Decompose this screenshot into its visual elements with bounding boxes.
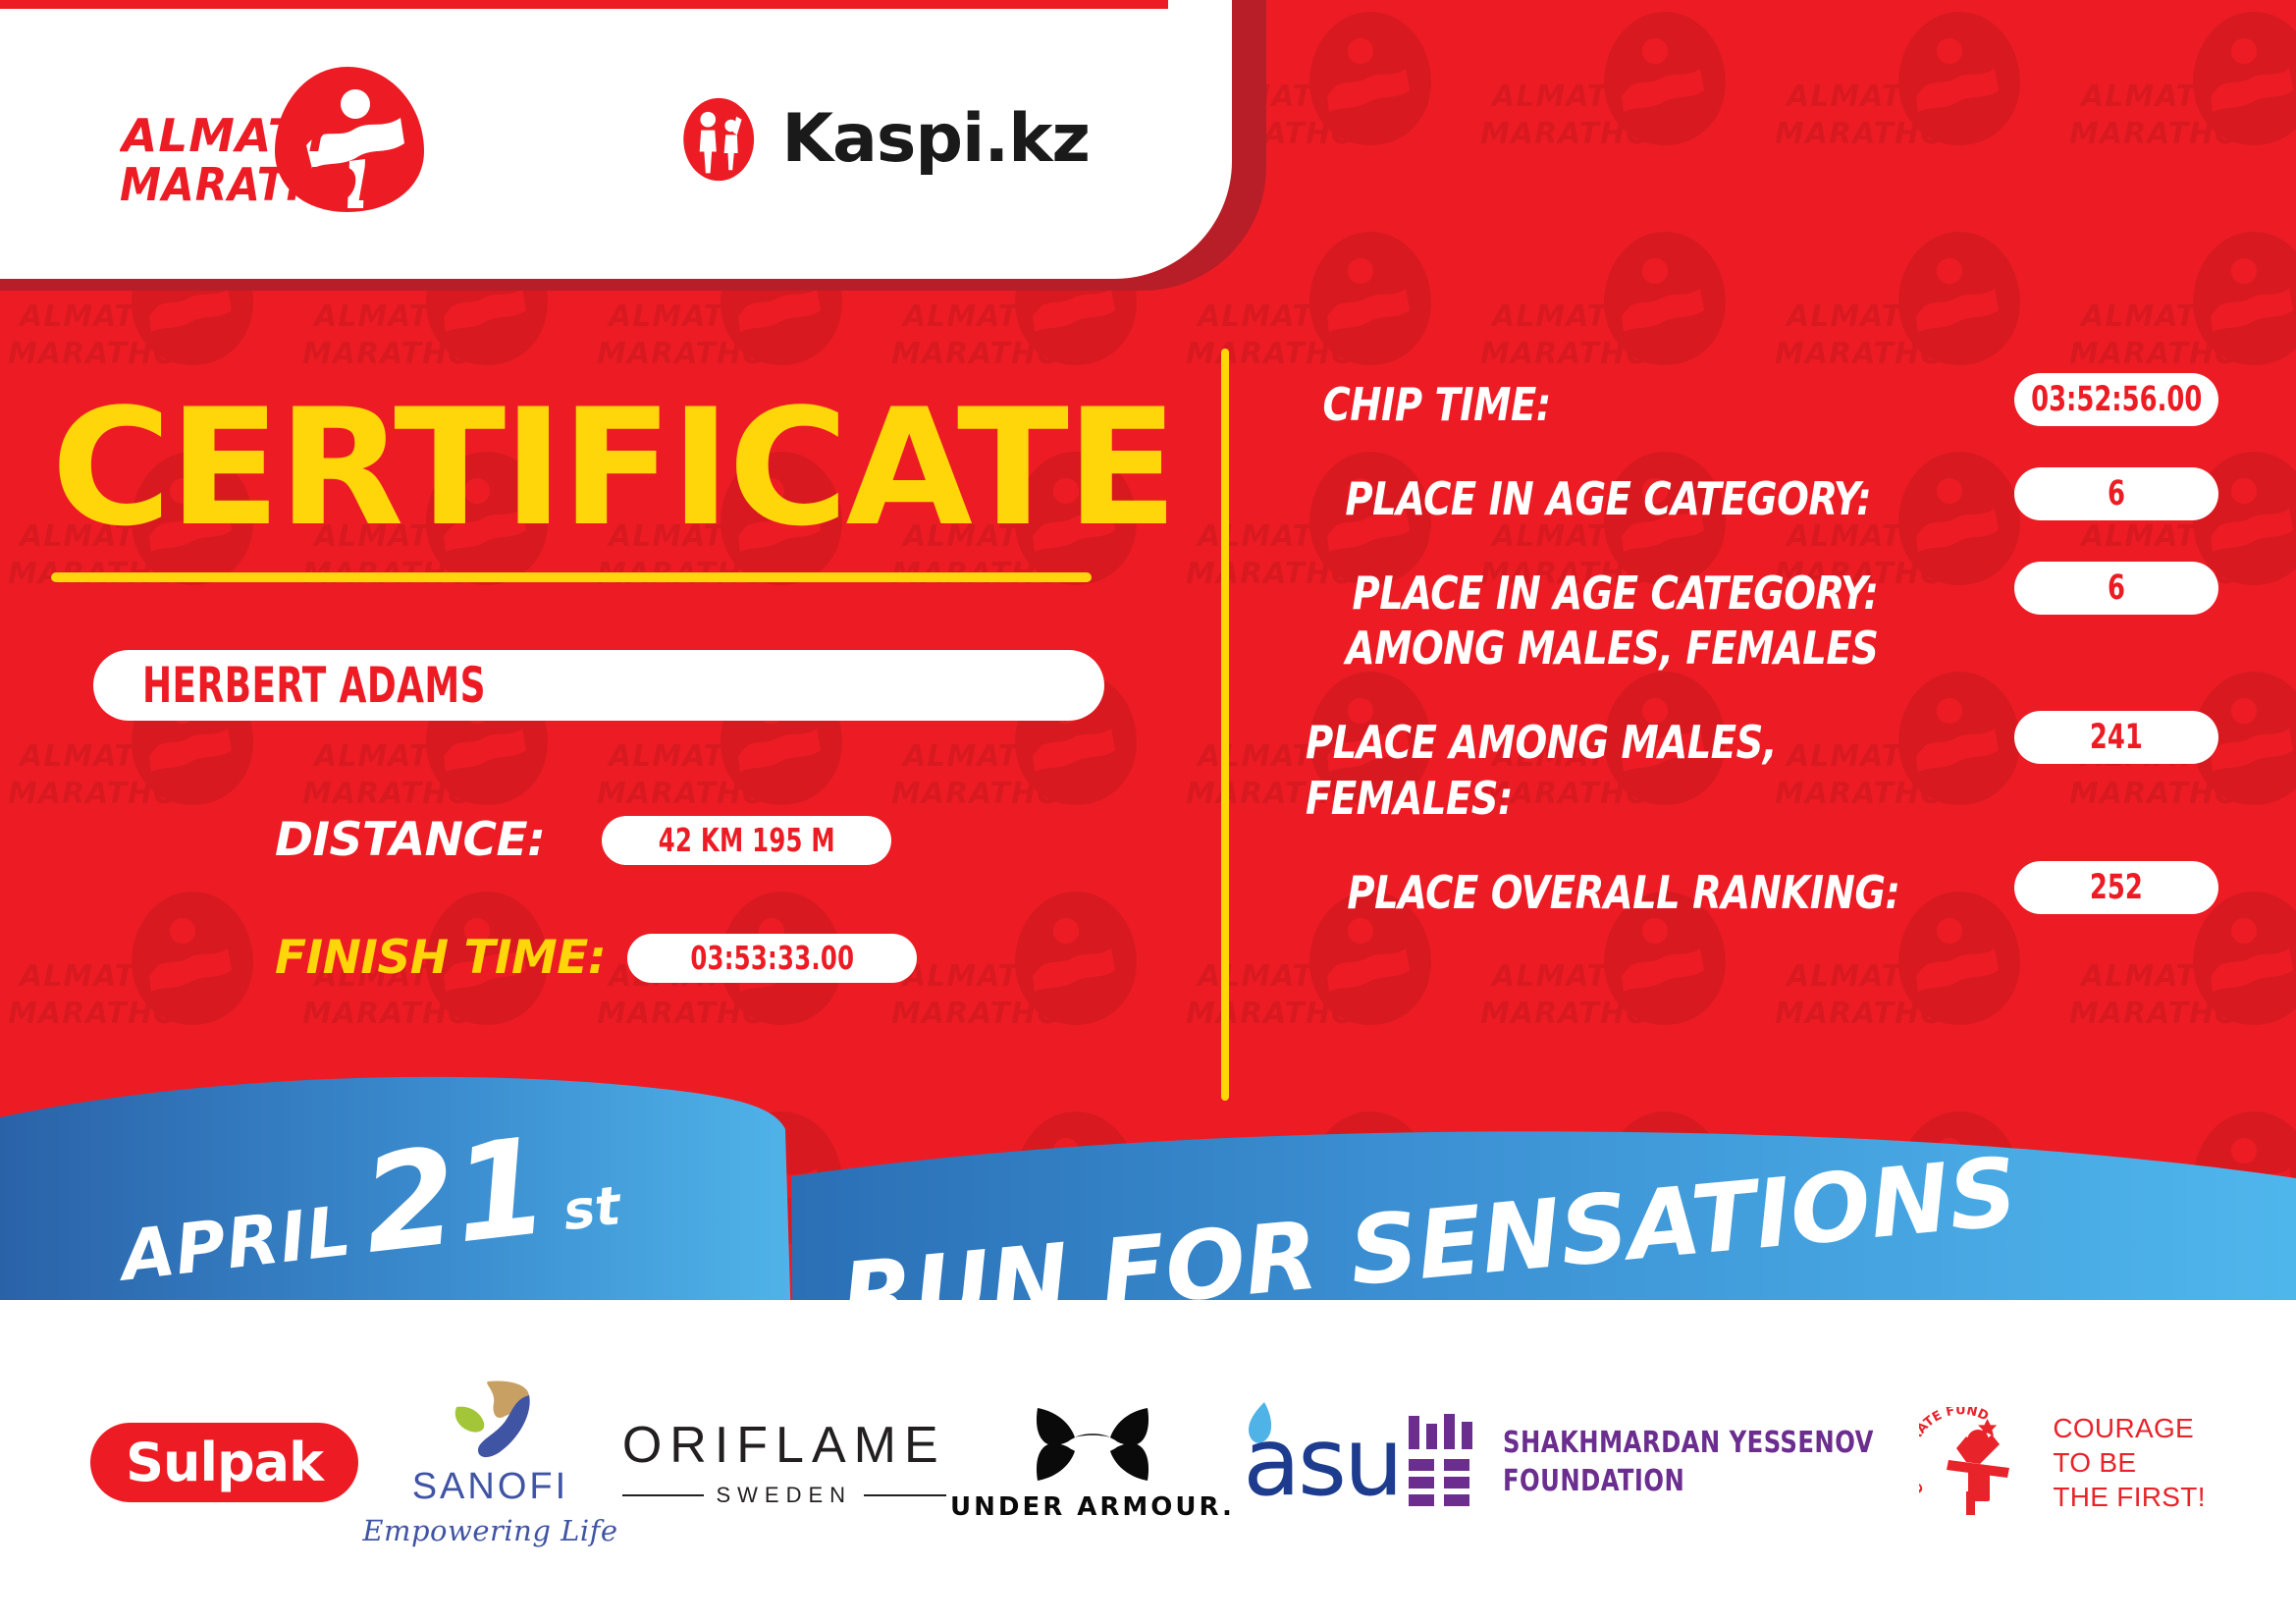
sponsor-under-armour: UNDER ARMOUR.	[950, 1402, 1235, 1522]
certificate-page: ALMATY MARATHON ALMATY MARATHON	[0, 0, 2296, 1624]
stat-row-place-age-category-gender: PLACE IN AGE CATEGORY: AMONG MALES, FEMA…	[1306, 562, 2218, 676]
distance-value-pill: 42 KM 195 M	[602, 816, 891, 865]
event-day: 21	[357, 1127, 552, 1268]
place-among-gender-value-pill: 241	[2014, 711, 2218, 764]
courage-line3: THE FIRST!	[2053, 1480, 2205, 1514]
place-among-gender-label: PLACE AMONG MALES, FEMALES:	[1306, 711, 1777, 825]
participant-name-field: HERBERT ADAMS	[93, 650, 1104, 721]
stat-row-place-overall: PLACE OVERALL RANKING: 252	[1306, 861, 2218, 920]
stat-row-chip-time: CHIP TIME: 03:52:56.00	[1306, 373, 2218, 432]
stats-panel: CHIP TIME: 03:52:56.00 PLACE IN AGE CATE…	[1306, 373, 2218, 955]
sanofi-mark-icon	[445, 1378, 535, 1462]
yessenov-mark-icon	[1405, 1414, 1477, 1510]
asu-wordmark: asu	[1243, 1415, 1401, 1509]
yessenov-wordmark: SHAKHMARDAN YESSENOV FOUNDATION	[1503, 1424, 1874, 1500]
distance-value: 42 KM 195 M	[659, 821, 835, 859]
place-among-gender-value: 241	[2090, 718, 2143, 757]
chip-time-label: CHIP TIME:	[1322, 373, 1550, 432]
chip-time-value-pill: 03:52:56.00	[2014, 373, 2218, 426]
stat-row-place-age-category: PLACE IN AGE CATEGORY: 6	[1306, 467, 2218, 526]
stat-row-place-among-gender: PLACE AMONG MALES, FEMALES: 241	[1306, 711, 2218, 825]
oriflame-rule-left	[622, 1494, 705, 1496]
place-overall-value-pill: 252	[2014, 861, 2218, 914]
place-age-category-label: PLACE IN AGE CATEGORY:	[1345, 467, 1871, 526]
sponsor-asu: asu	[1239, 1398, 1401, 1526]
finish-time-row: FINISH TIME: 03:53:33.00	[275, 931, 917, 985]
place-overall-value: 252	[2090, 868, 2143, 907]
place-age-category-value: 6	[2108, 474, 2125, 514]
oriflame-rule-right	[864, 1494, 946, 1496]
under-armour-wordmark: UNDER ARMOUR.	[950, 1492, 1235, 1522]
chip-time-value: 03:52:56.00	[2031, 380, 2202, 419]
event-day-suffix: st	[560, 1174, 623, 1242]
place-age-category-gender-value-pill: 6	[2014, 562, 2218, 615]
place-age-category-gender-label: PLACE IN AGE CATEGORY: AMONG MALES, FEMA…	[1346, 562, 1879, 676]
finish-time-value: 03:53:33.00	[690, 939, 854, 977]
title-underline	[51, 572, 1092, 582]
place-age-category-gender-label-line1: PLACE IN AGE CATEGORY:	[1346, 566, 1879, 621]
place-age-category-gender-value: 6	[2108, 568, 2125, 608]
finish-time-value-pill: 03:53:33.00	[627, 934, 917, 983]
under-armour-mark-icon	[1020, 1402, 1165, 1487]
finish-time-label: FINISH TIME:	[275, 931, 606, 985]
oriflame-country: SWEDEN	[716, 1483, 852, 1508]
distance-row: DISTANCE: 42 KM 195 M	[275, 813, 891, 867]
sponsor-yessenov-foundation: SHAKHMARDAN YESSENOV FOUNDATION	[1405, 1414, 1915, 1510]
sponsor-courage-fund: CORPORATE FUND COURAGE TO BE THE FIRST!	[1919, 1407, 2205, 1517]
courage-fund-wordmark: COURAGE TO BE THE FIRST!	[2053, 1411, 2205, 1514]
place-among-gender-label-line1: PLACE AMONG MALES,	[1306, 715, 1777, 770]
place-age-category-value-pill: 6	[2014, 467, 2218, 520]
sponsor-oriflame: ORIFLAME SWEDEN	[622, 1416, 946, 1508]
courage-line1: COURAGE	[2053, 1411, 2205, 1445]
place-among-gender-label-line2: FEMALES:	[1306, 771, 1777, 826]
sponsor-bar: Sulpak SANOFI Empowering Life ORIFLAME S…	[0, 1300, 2296, 1624]
courage-line2: TO BE	[2053, 1445, 2205, 1480]
distance-label: DISTANCE:	[275, 813, 545, 867]
oriflame-wordmark: ORIFLAME	[622, 1416, 946, 1475]
sulpak-wordmark: Sulpak	[126, 1432, 323, 1493]
place-overall-label: PLACE OVERALL RANKING:	[1347, 861, 1899, 920]
courage-fund-mark-icon: CORPORATE FUND	[1919, 1407, 2037, 1517]
sponsor-sanofi: SANOFI Empowering Life	[362, 1378, 617, 1547]
yessenov-line1: SHAKHMARDAN YESSENOV	[1503, 1424, 1874, 1462]
column-divider	[1221, 349, 1229, 1101]
page-title: CERTIFICATE	[51, 388, 1175, 549]
sanofi-tagline: Empowering Life	[362, 1514, 617, 1547]
oriflame-subline: SWEDEN	[622, 1483, 946, 1508]
sponsor-sulpak: Sulpak	[90, 1423, 358, 1502]
yessenov-line2: FOUNDATION	[1503, 1462, 1874, 1500]
sanofi-wordmark: SANOFI	[412, 1466, 568, 1508]
participant-name: HERBERT ADAMS	[142, 657, 486, 714]
place-age-category-gender-label-line2: AMONG MALES, FEMALES	[1346, 621, 1879, 676]
